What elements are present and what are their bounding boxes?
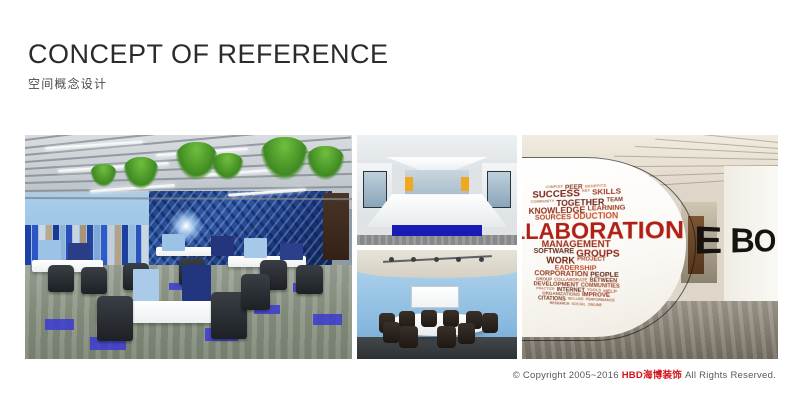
desk-privacy-screen	[211, 236, 234, 256]
desk-privacy-screen	[280, 243, 303, 261]
hanging-plant	[260, 137, 309, 180]
meeting-chair	[421, 310, 437, 328]
footer-copyright: © Copyright 2005~2016 HBD海博装饰 All Rights…	[513, 367, 776, 381]
desk-privacy-screen	[182, 265, 211, 301]
meeting-chair	[443, 310, 459, 328]
task-chair	[97, 296, 133, 341]
corridor-orange-accent-left	[405, 177, 413, 191]
gallery-column-right: E BO COMPLEXPEERBENEFITSSUCCESSKEYSKILLS…	[522, 135, 778, 359]
photo-open-office[interactable]	[25, 135, 352, 359]
task-chair	[81, 267, 107, 294]
floor-accent-tile	[313, 314, 342, 325]
hanging-plant	[211, 153, 244, 180]
gallery-column-middle	[357, 135, 517, 359]
slide-header: CONCEPT OF REFERENCE 空间概念设计	[28, 40, 389, 92]
floor-accent-tile	[45, 319, 74, 330]
corridor-orange-accent-right	[461, 177, 469, 191]
corridor-blue-panel	[392, 225, 482, 236]
brand-name-cn: 海博装饰	[643, 370, 682, 381]
desk-privacy-screen	[68, 243, 91, 261]
desk-privacy-screen	[38, 240, 61, 260]
hanging-plant	[306, 146, 345, 180]
task-chair	[48, 265, 74, 292]
hanging-plant	[90, 164, 116, 186]
page-title: CONCEPT OF REFERENCE	[28, 40, 389, 68]
corridor-floor	[357, 235, 517, 245]
task-chair	[241, 274, 270, 310]
ceiling-spotlight	[434, 257, 439, 262]
meeting-chair	[383, 322, 401, 343]
meeting-chair	[437, 326, 456, 348]
office-wood-door	[323, 193, 349, 260]
photo-corridor-glass-offices[interactable]	[357, 135, 517, 245]
copyright-prefix: © Copyright 2005~2016	[513, 370, 619, 381]
meeting-whiteboard	[411, 286, 459, 308]
ceiling-spotlight	[479, 257, 484, 262]
meeting-chair	[482, 313, 498, 333]
desk-privacy-screen	[162, 234, 185, 252]
hanging-plant	[123, 157, 159, 188]
photo-word-cloud-corridor[interactable]: E BO COMPLEXPEERBENEFITSSUCCESSKEYSKILLS…	[522, 135, 778, 359]
meeting-chair	[399, 326, 418, 348]
brand-name: HBD	[622, 370, 643, 381]
corridor-glass-office-right	[487, 171, 511, 208]
page-subtitle: 空间概念设计	[28, 75, 389, 92]
photo-gallery: E BO COMPLEXPEERBENEFITSSUCCESSKEYSKILLS…	[25, 135, 778, 359]
desk-privacy-screen	[133, 269, 159, 300]
rights-reserved: All Rights Reserved.	[685, 370, 776, 381]
desk-privacy-screen	[244, 238, 267, 258]
gallery-column-left	[25, 135, 352, 359]
meeting-ceiling	[357, 250, 517, 278]
task-chair	[296, 265, 322, 294]
corridor-glass-office-left	[363, 171, 387, 208]
wordwall-right-wall-letters: E BO	[694, 219, 775, 263]
photo-meeting-room[interactable]	[357, 250, 517, 360]
meeting-chair	[458, 323, 476, 344]
